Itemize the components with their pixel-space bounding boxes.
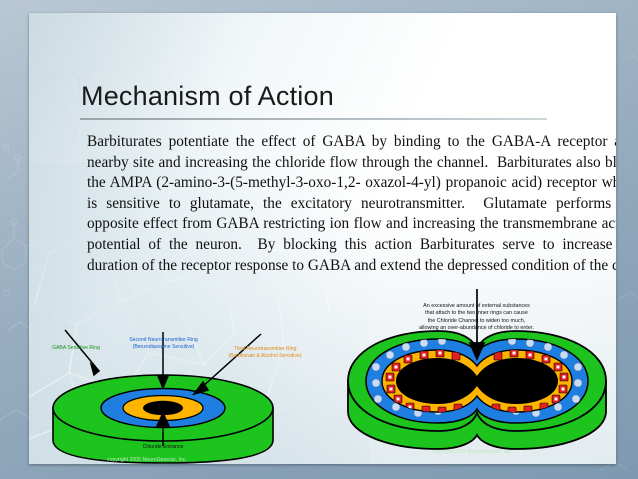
title-divider <box>80 118 547 120</box>
svg-text:H: H <box>39 40 47 52</box>
widened-channel-illustration <box>334 289 616 464</box>
label-second-neurotransmitter-ring-line1: Second Neurotransmitter Ring <box>112 337 215 343</box>
label-third-neurotransmitter-ring-line1: Third Neurotransmitter Ring <box>211 346 319 352</box>
slide: NO <box>0 0 638 479</box>
left-diagram: GABA Sensitive Ring Second Neurotransmit… <box>29 318 323 464</box>
slide-panel: H N O C Mechanism of Action Barbiturates… <box>29 13 616 464</box>
right-diagram-copyright: copyright 2005 NeuroGenesis, Inc. <box>432 449 512 455</box>
right-diagram: An excessive amount of external substanc… <box>334 289 616 464</box>
svg-text:N: N <box>3 142 10 152</box>
label-second-neurotransmitter-ring-line2: (Benzodiazepine Sensitive) <box>112 344 215 350</box>
svg-text:O: O <box>3 288 10 298</box>
label-gaba-sensitive-ring: GABA Sensitive Ring <box>43 345 109 351</box>
body-paragraph: Barbiturates potentiate the effect of GA… <box>87 132 616 276</box>
left-diagram-copyright: copyright 2005 NeuroGenesis, Inc. <box>107 457 187 463</box>
page-title: Mechanism of Action <box>81 81 334 112</box>
svg-text:O: O <box>55 180 64 192</box>
label-chloride-entrance: Chloride Entrance <box>128 444 198 450</box>
label-third-neurotransmitter-ring-line2: (Barbiturate & Alcohol Sensitive) <box>211 353 319 359</box>
svg-text:N: N <box>89 56 97 68</box>
